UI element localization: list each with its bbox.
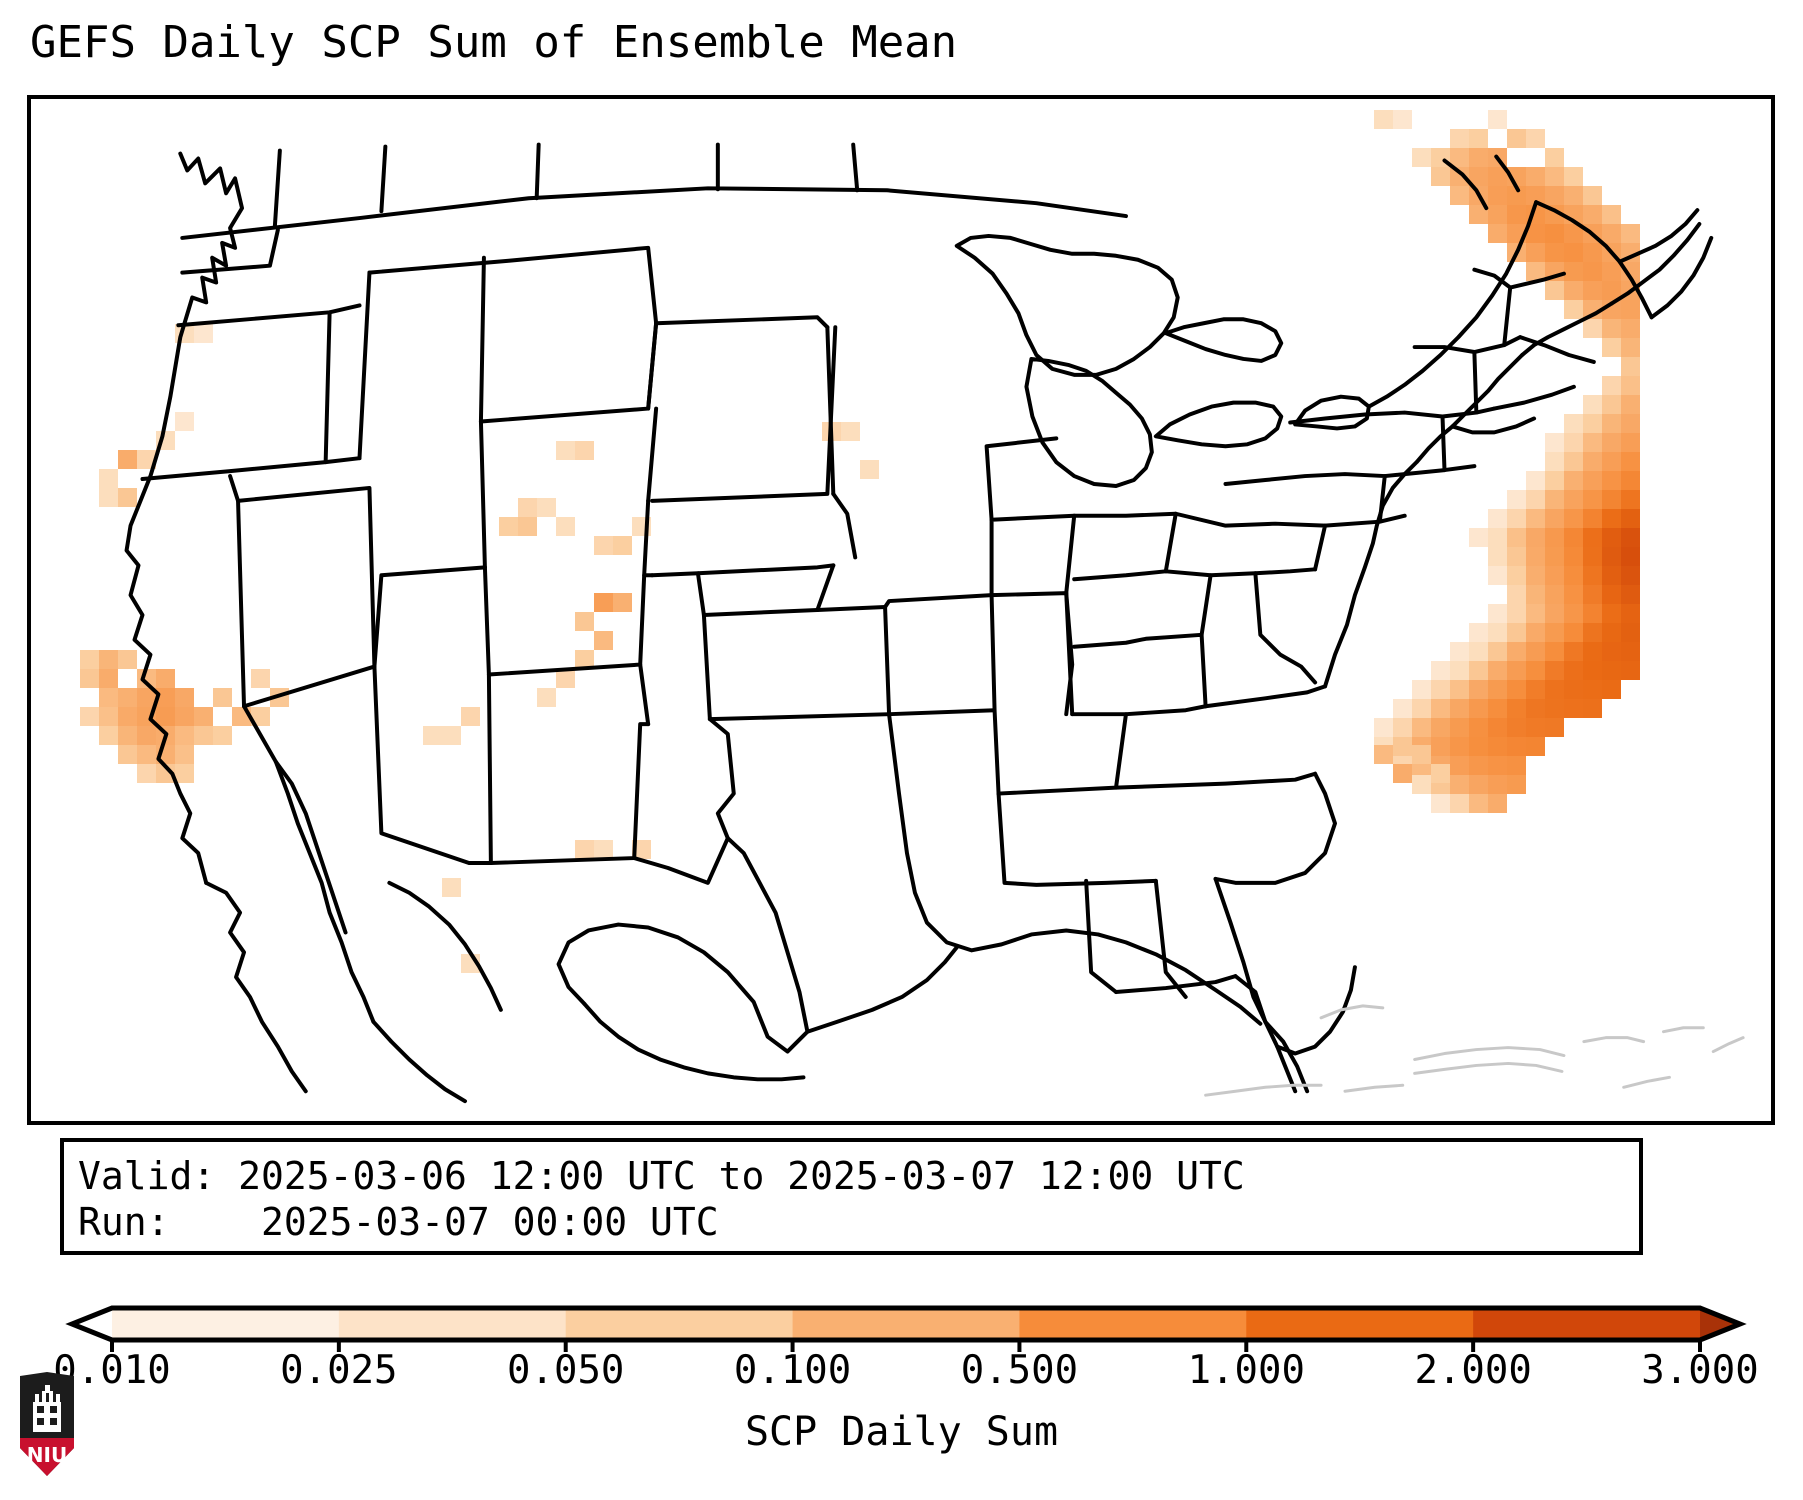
colorbar-segment bbox=[566, 1308, 793, 1340]
colorbar-segment bbox=[112, 1308, 339, 1340]
colorbar-segment bbox=[339, 1308, 566, 1340]
colorbar-tick-label: 3.000 bbox=[1641, 1348, 1758, 1394]
page-title: GEFS Daily SCP Sum of Ensemble Mean bbox=[30, 16, 957, 70]
geography-outlines bbox=[31, 99, 1771, 1121]
colorbar-segment bbox=[1246, 1308, 1473, 1340]
colorbar-tick-label: 1.000 bbox=[1188, 1348, 1305, 1394]
colorbar-tick-label: 0.050 bbox=[507, 1348, 624, 1394]
colorbar-tick-labels: 0.0100.0250.0500.1000.5001.0002.0003.000 bbox=[0, 1348, 1803, 1408]
run-time-line: Run: 2025-03-07 00:00 UTC bbox=[78, 1200, 719, 1244]
niu-logo-text: NIU bbox=[27, 1443, 67, 1467]
colorbar-segment bbox=[1473, 1308, 1700, 1340]
colorbar-tick-label: 0.100 bbox=[734, 1348, 851, 1394]
colorbar-tick-label: 0.500 bbox=[961, 1348, 1078, 1394]
colorbar-segment bbox=[1019, 1308, 1246, 1340]
valid-run-info-box: Valid: 2025-03-06 12:00 UTC to 2025-03-0… bbox=[60, 1138, 1643, 1255]
colorbar-tick-label: 0.025 bbox=[280, 1348, 397, 1394]
valid-time-line: Valid: 2025-03-06 12:00 UTC to 2025-03-0… bbox=[78, 1154, 1245, 1198]
colorbar-tick-label: 2.000 bbox=[1414, 1348, 1531, 1394]
colorbar-axis-label: SCP Daily Sum bbox=[0, 1408, 1803, 1456]
map-panel[interactable] bbox=[27, 95, 1775, 1125]
weather-map-figure: GEFS Daily SCP Sum of Ensemble Mean bbox=[0, 0, 1803, 1500]
niu-logo: NIU bbox=[16, 1372, 78, 1480]
colorbar-segment bbox=[793, 1308, 1020, 1340]
